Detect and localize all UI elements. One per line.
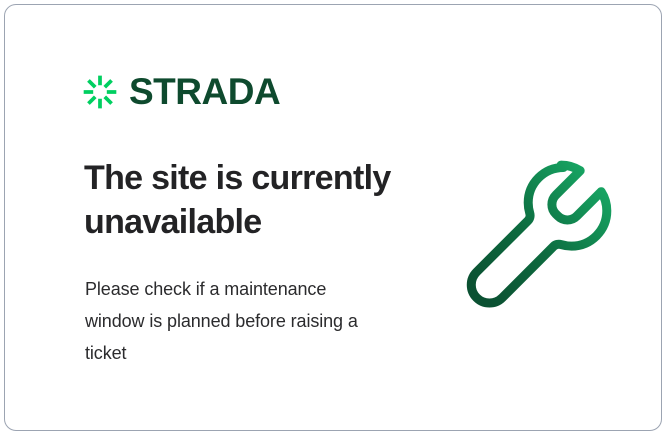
error-page: STRADA The site is currently unavailable…: [0, 0, 666, 436]
status-card: STRADA The site is currently unavailable…: [4, 4, 662, 431]
asterisk-star-icon: [83, 75, 117, 109]
brand-lockup: STRADA: [83, 73, 280, 110]
strada-wordmark: STRADA: [129, 73, 280, 110]
page-title: The site is currently unavailable: [84, 157, 414, 244]
strada-logo-mark: [83, 75, 117, 109]
wrench-icon: [457, 153, 623, 319]
page-description: Please check if a maintenance window is …: [85, 273, 385, 369]
